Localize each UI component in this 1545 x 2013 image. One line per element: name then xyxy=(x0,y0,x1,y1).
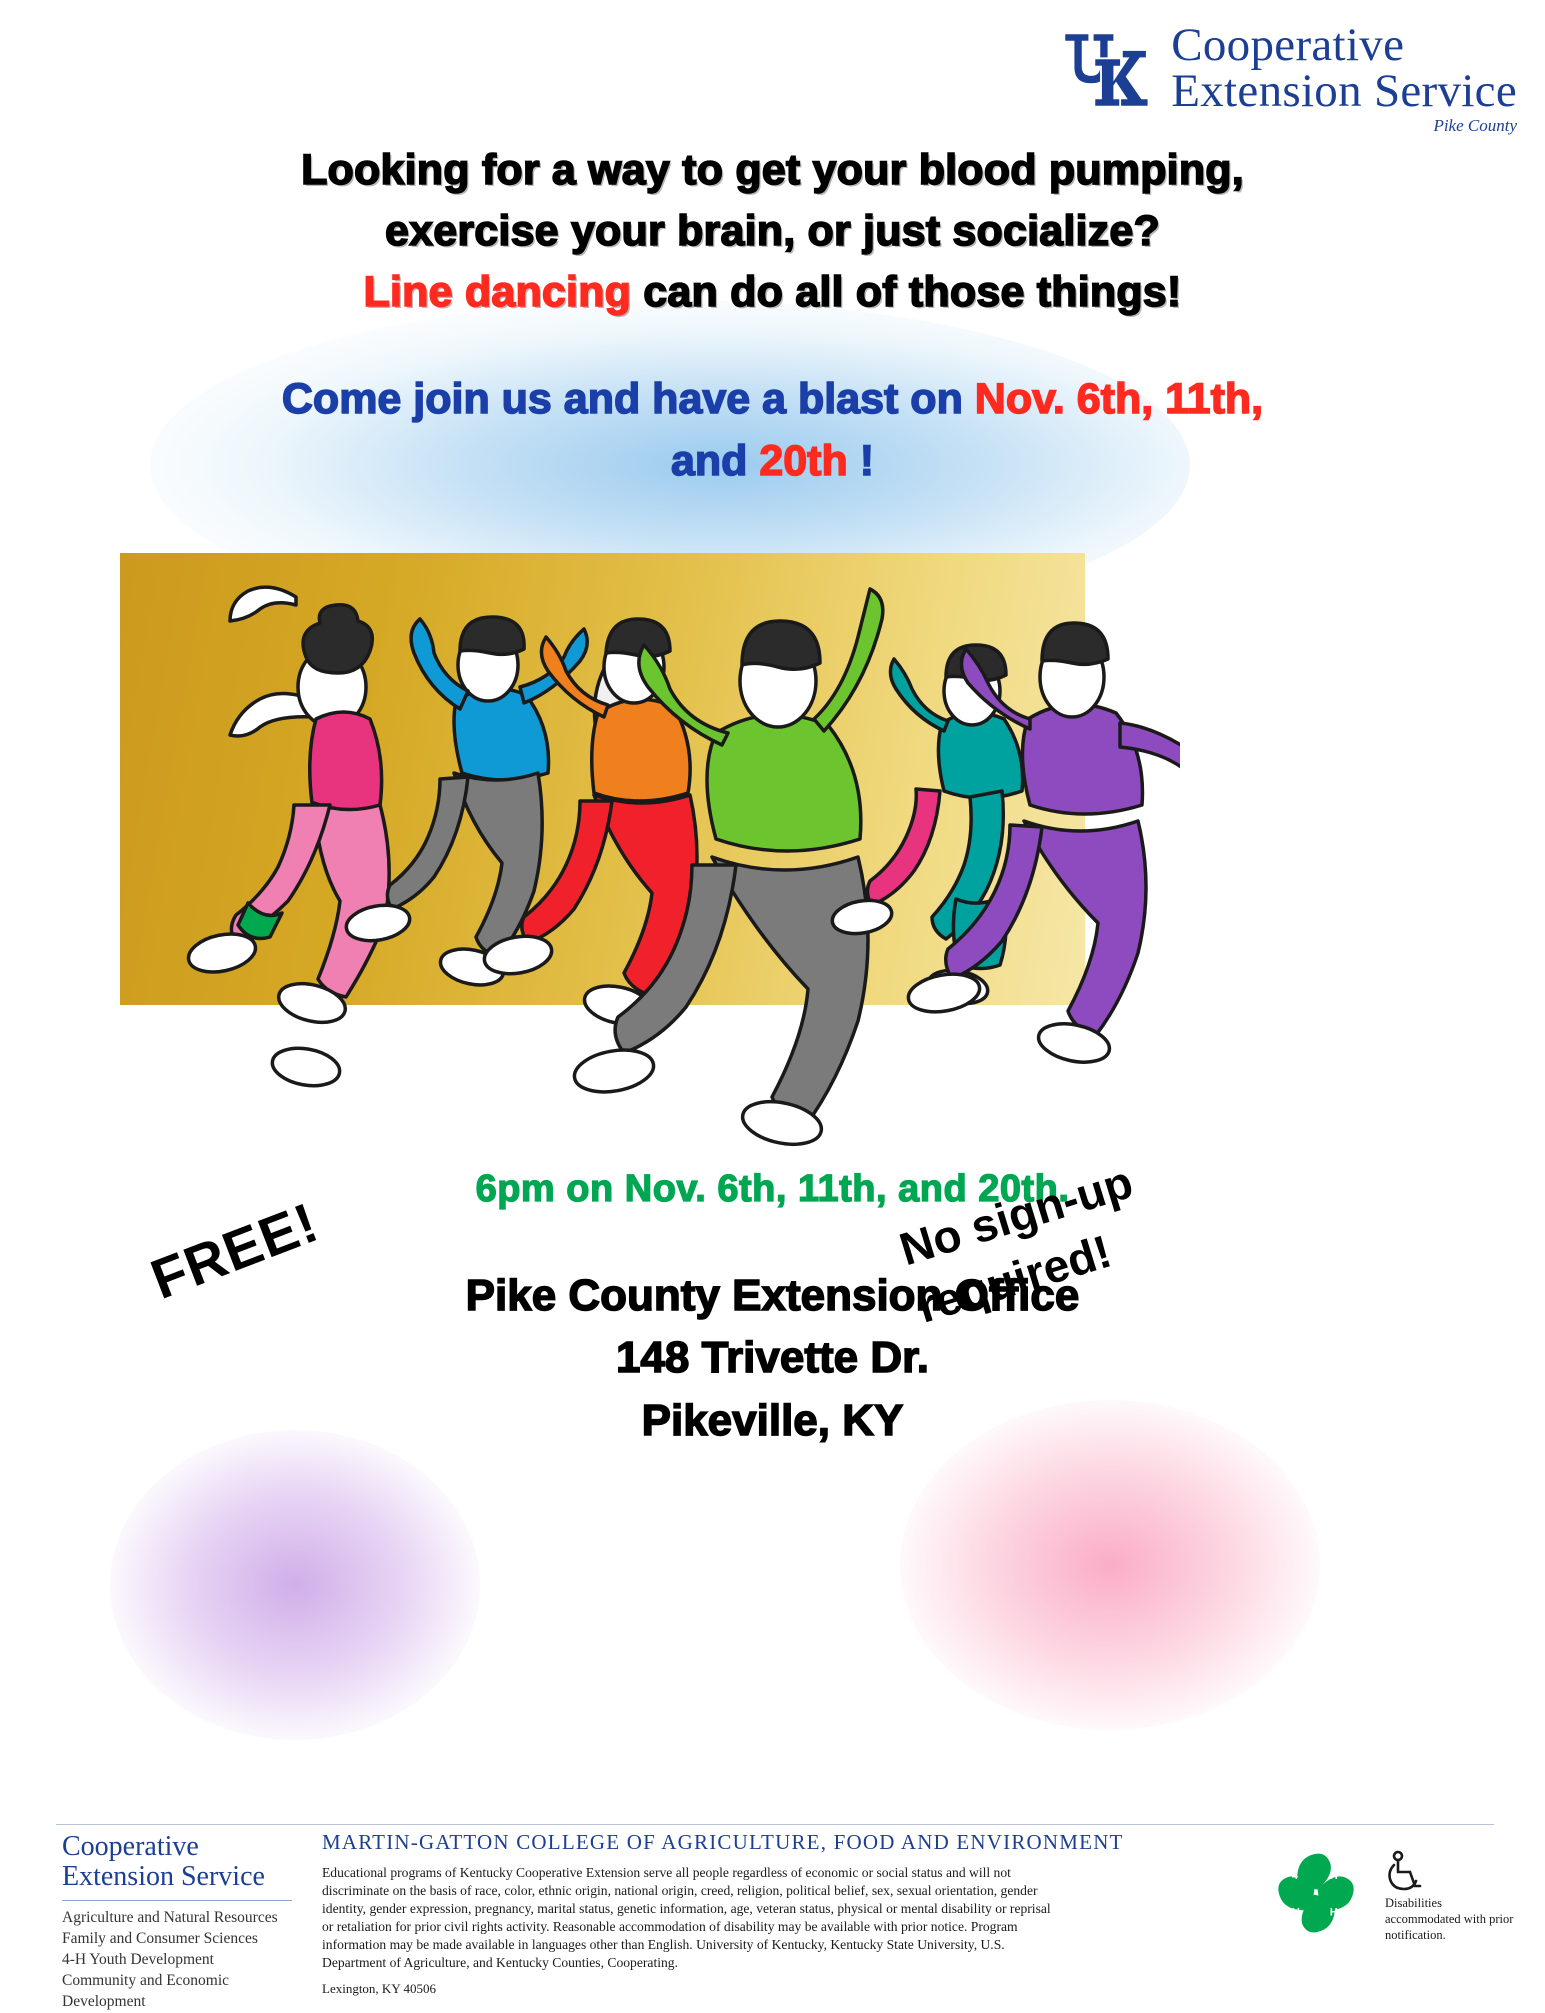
program-item: Family and Consumer Sciences xyxy=(62,1929,300,1950)
headline-block: Looking for a way to get your blood pump… xyxy=(0,140,1545,323)
svg-text:H: H xyxy=(1330,1870,1338,1882)
footer-lexington-address: Lexington, KY 40506 xyxy=(322,1981,1545,1997)
program-item: Agriculture and Natural Resources xyxy=(62,1908,300,1929)
event-time-line: 6pm on Nov. 6th, 11th, and 20th. xyxy=(0,1168,1545,1211)
headline-line-2: exercise your brain, or just socialize? xyxy=(0,201,1545,262)
venue-block: Pike County Extension Office 148 Trivett… xyxy=(0,1265,1545,1452)
svg-text:4: 4 xyxy=(1292,1870,1299,1882)
headline-emphasis-line-dancing: Line dancing xyxy=(364,268,632,316)
headline-line-3-rest: can do all of those things! xyxy=(643,268,1181,316)
footer: Cooperative Extension Service Agricultur… xyxy=(0,1826,1545,2000)
footer-program-list: Agriculture and Natural Resources Family… xyxy=(62,1908,300,2013)
svg-text:H: H xyxy=(1330,1906,1338,1918)
accessibility-note: Disabilities accommodated with prior not… xyxy=(1385,1896,1515,1943)
footer-legal-block: MARTIN-GATTON COLLEGE OF AGRICULTURE, FO… xyxy=(300,1826,1545,2000)
logo-county-label: Pike County xyxy=(1171,118,1517,135)
footer-icons: 4H HH Disabilities accommodated with pri… xyxy=(1273,1850,1515,1943)
footer-divider xyxy=(56,1824,1494,1825)
logo-wordmark-line1: Cooperative xyxy=(1171,22,1517,68)
footer-ces-line1: Cooperative xyxy=(62,1832,300,1862)
headline-line-1: Looking for a way to get your blood pump… xyxy=(0,140,1545,201)
invitation-text-part2: and xyxy=(671,437,747,485)
accessibility-block: Disabilities accommodated with prior not… xyxy=(1385,1850,1515,1943)
line-dancers-illustration xyxy=(120,505,1180,1165)
purple-glow-decoration xyxy=(110,1430,480,1740)
invitation-exclamation: ! xyxy=(860,437,874,485)
logo-wordmark-line2: Extension Service xyxy=(1171,68,1517,114)
headline-line-3: Line dancing can do all of those things! xyxy=(0,262,1545,323)
uk-cooperative-extension-logo: Cooperative Extension Service Pike Count… xyxy=(1061,22,1517,135)
invitation-line-2: and 20th ! xyxy=(0,430,1545,492)
wheelchair-accessibility-icon xyxy=(1385,1850,1425,1894)
venue-street: 148 Trivette Dr. xyxy=(0,1327,1545,1389)
four-h-clover-icon: 4H HH xyxy=(1273,1850,1359,1936)
invitation-block: Come join us and have a blast on Nov. 6t… xyxy=(0,368,1545,493)
invitation-text-part1: Come join us and have a blast on xyxy=(282,375,963,423)
footer-ces-line2: Extension Service xyxy=(62,1862,300,1892)
invitation-line-1: Come join us and have a blast on Nov. 6t… xyxy=(0,368,1545,430)
footer-small-divider xyxy=(62,1900,292,1901)
uk-logo-icon xyxy=(1061,28,1161,112)
nondiscrimination-disclaimer: Educational programs of Kentucky Coopera… xyxy=(322,1864,1062,1972)
footer-extension-block: Cooperative Extension Service Agricultur… xyxy=(0,1826,300,2000)
svg-text:H: H xyxy=(1292,1906,1300,1918)
venue-city-state: Pikeville, KY xyxy=(0,1390,1545,1452)
program-item: Community and Economic Development xyxy=(62,1971,300,2013)
invitation-dates-first: Nov. 6th, 11th, xyxy=(975,375,1263,423)
invitation-dates-second: 20th xyxy=(759,437,847,485)
program-item: 4-H Youth Development xyxy=(62,1950,300,1971)
